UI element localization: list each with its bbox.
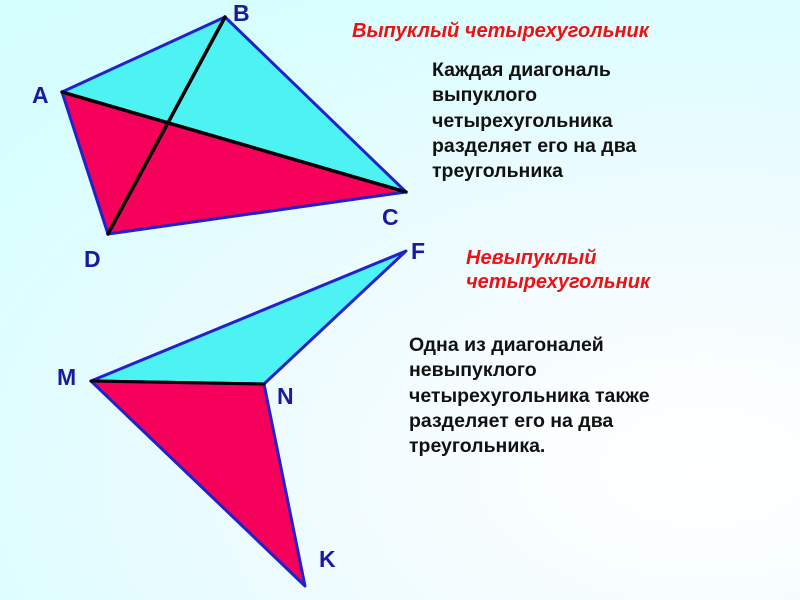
paragraph-nonconvex-quadrilateral: Одна из диагоналей невыпуклого четырехуг… [409,333,794,460]
vertex-label-a: A [32,84,49,107]
vertex-label-n: N [277,385,294,408]
slide-canvas: A B C D M F N K Выпуклый четырехугольник… [0,0,800,600]
heading-nonconvex-quadrilateral: Невыпуклый четырехугольник [466,247,650,294]
vertex-label-f: F [411,240,425,263]
heading-convex-quadrilateral: Выпуклый четырехугольник [352,20,649,44]
convex-quadrilateral [62,17,406,234]
nonconvex-crimson-triangle-mnk [91,381,305,586]
nonconvex-cyan-triangle-mfn [91,251,406,384]
vertex-label-k: K [319,548,336,571]
paragraph-convex-quadrilateral: Каждая диагональ выпуклого четырехугольн… [432,58,792,185]
vertex-label-b: B [233,2,250,25]
vertex-label-m: M [57,366,76,389]
nonconvex-quadrilateral [91,251,406,586]
vertex-label-c: C [382,206,399,229]
vertex-label-d: D [84,248,101,271]
